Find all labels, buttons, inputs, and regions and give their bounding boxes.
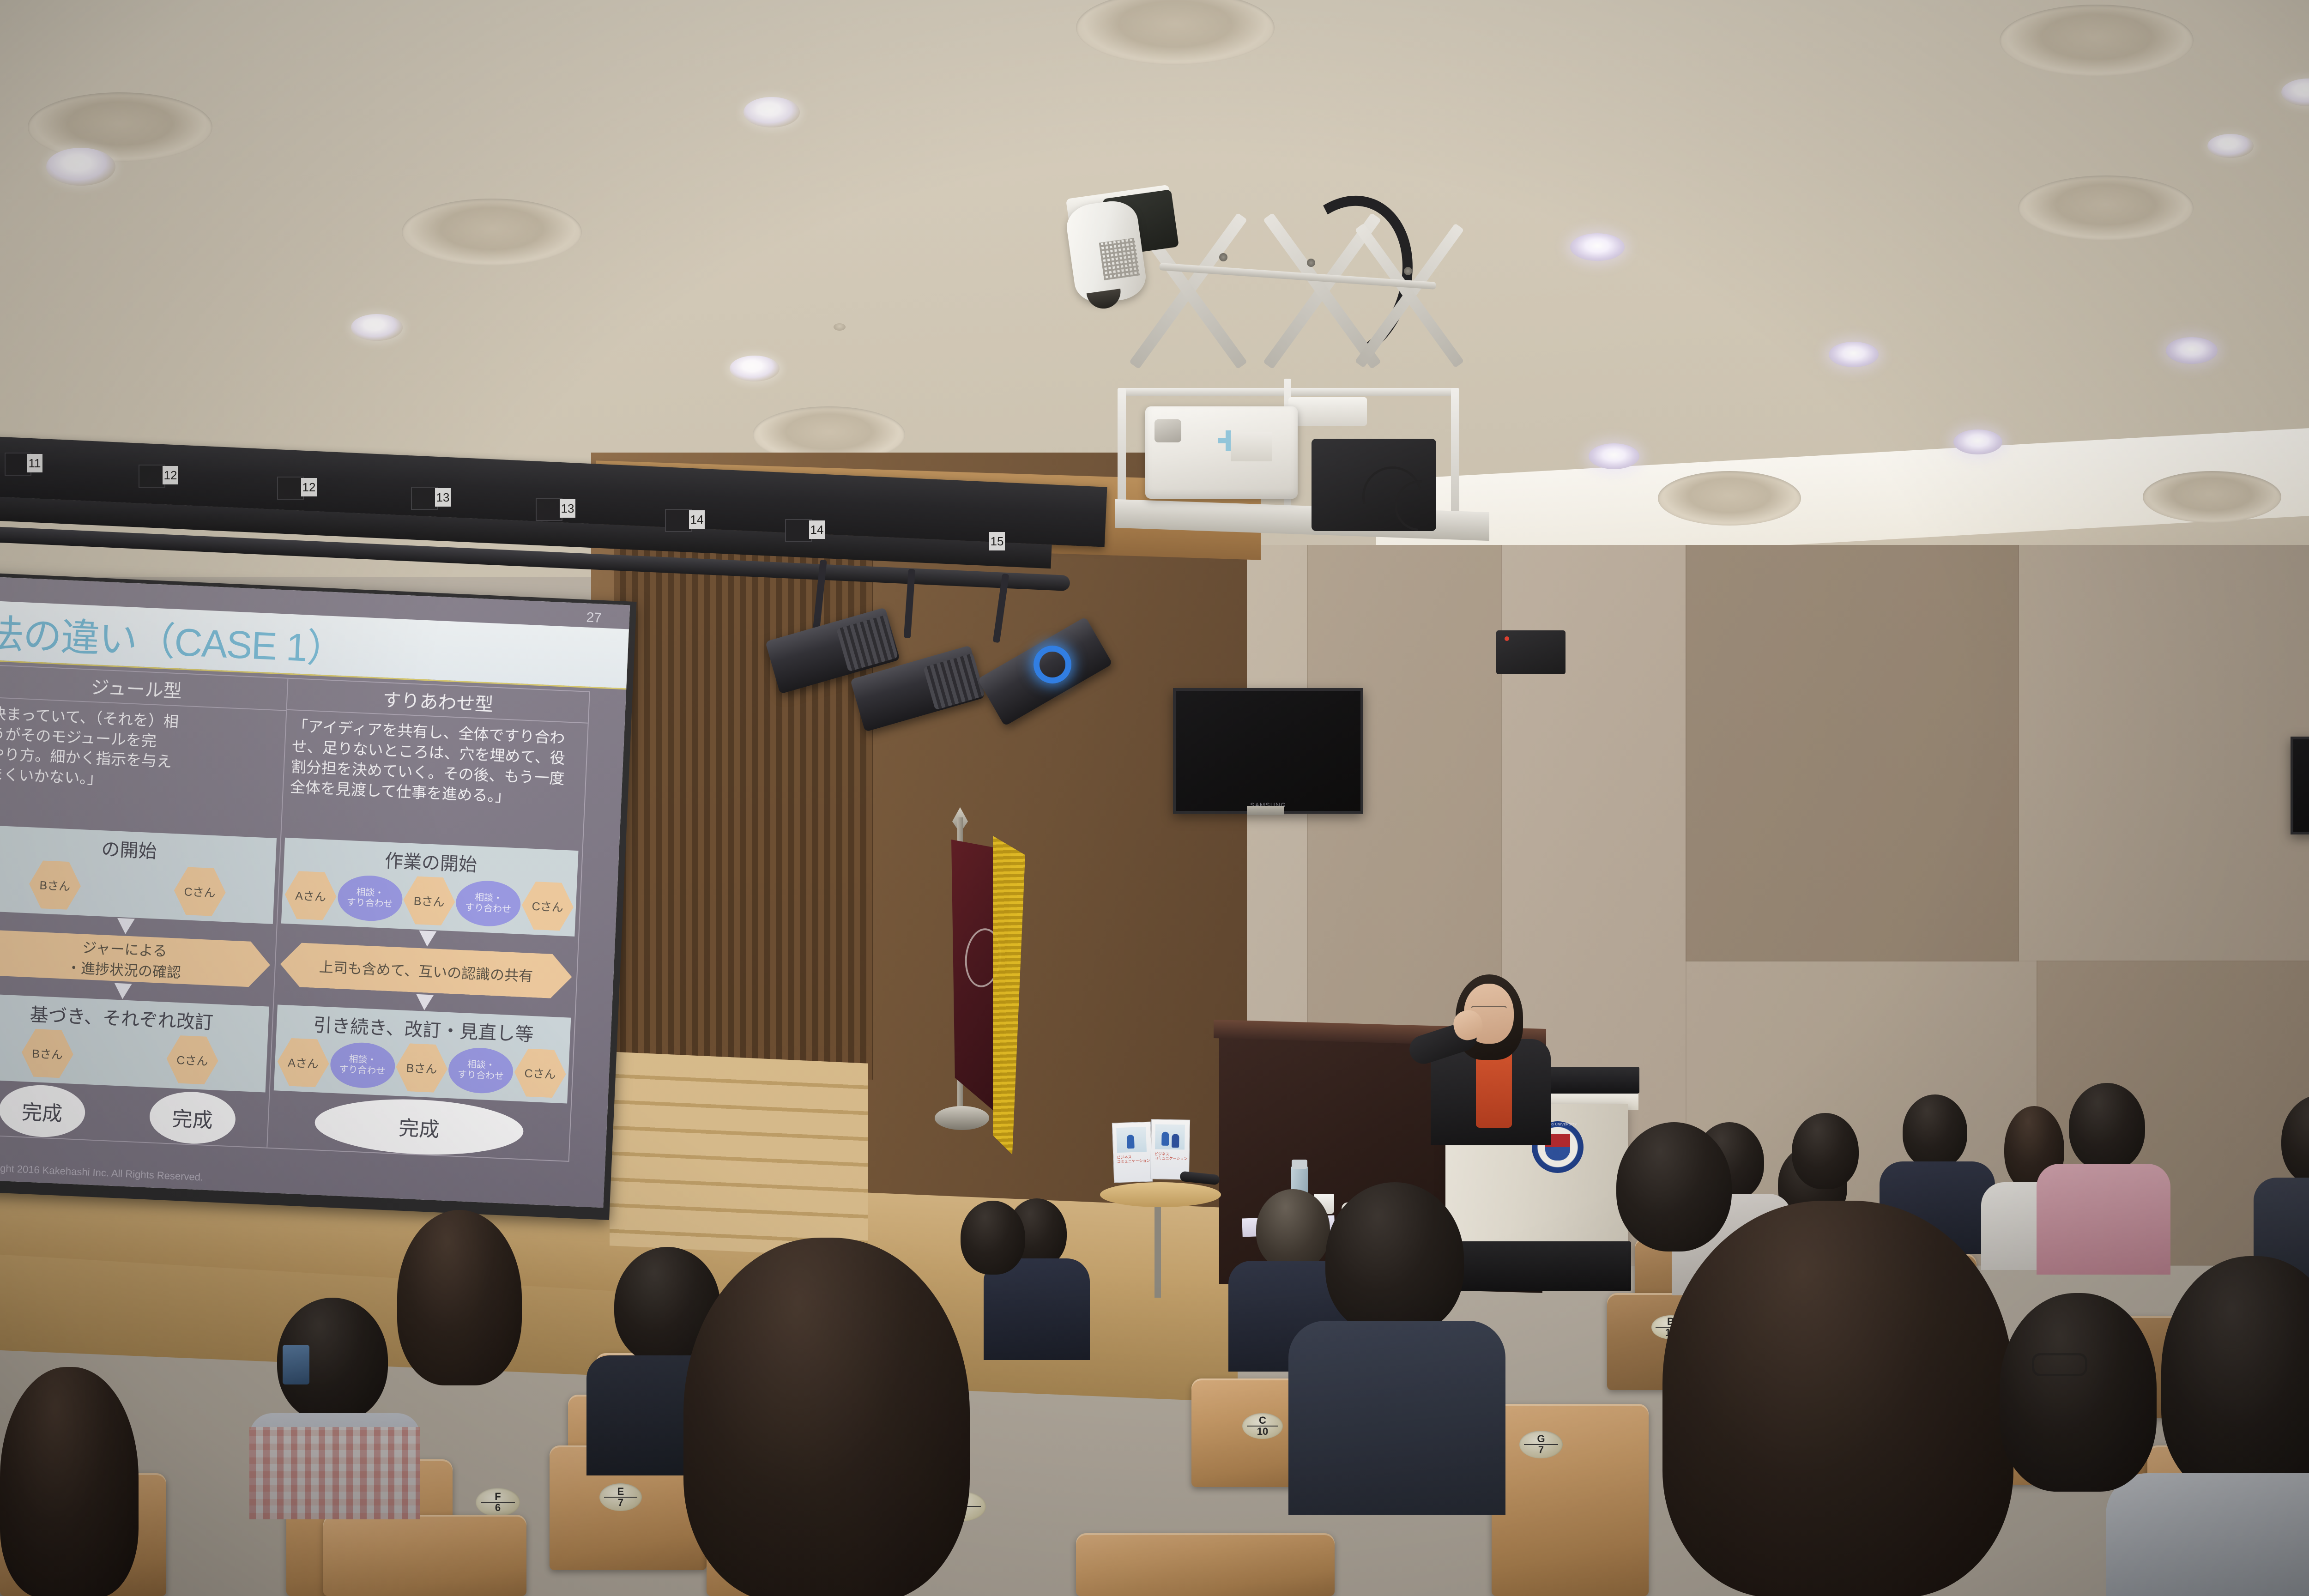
scissor-pivot [1219, 253, 1227, 261]
audience-member-head [1662, 1201, 2013, 1596]
spotlight-led-indicator [1034, 646, 1071, 683]
table-leg [1154, 1201, 1161, 1298]
audience-member-head [2069, 1083, 2145, 1171]
monitor-mount [1247, 806, 1284, 815]
projector-secondary-unit [1288, 397, 1367, 426]
circuit-number: 14 [689, 510, 705, 529]
seat-plaque: F 6 [476, 1488, 520, 1517]
lighting-circuit-outlet [411, 487, 438, 510]
seat-row-letter: C [1259, 1416, 1266, 1425]
wall-monitor-right[interactable] [2291, 737, 2309, 834]
flow-step-start: 作業の開始 Aさん 相談・ すり合わせ Bさん 相談・ すり合わせ Cさん [281, 838, 579, 937]
ceiling-ring-fixture [2018, 175, 2194, 240]
audience-member-head [683, 1238, 970, 1596]
ceiling-ring-fixture [2000, 5, 2194, 76]
column-quote: 決まっていて、（それを）相 うがそのモジュールを完 やり方。細かく指示を与え ま… [0, 697, 286, 837]
slide-title: 法の違い（CASE 1） [0, 602, 346, 674]
slide-page-number: 27 [586, 610, 602, 626]
flag-stand-base [935, 1106, 989, 1130]
projection-screen: 27 法の違い（CASE 1） ジュール型 決まっていて、（それを）相 うがその… [0, 573, 637, 1220]
auditorium-seat[interactable] [1076, 1533, 1335, 1596]
seat-number: 7 [618, 1498, 623, 1507]
auditorium-seat[interactable] [1492, 1404, 1649, 1596]
circuit-number: 15 [989, 532, 1005, 550]
seat-row-letter: E [617, 1487, 624, 1496]
smartphone[interactable] [283, 1345, 309, 1384]
auditorium-seat[interactable] [323, 1515, 526, 1596]
actor-node: Cさん [173, 866, 227, 917]
book-cover-image [1155, 1124, 1185, 1149]
ceiling-ring-fixture [28, 92, 212, 162]
audience-member-head [961, 1201, 1025, 1275]
ceiling-downlight [1589, 443, 1639, 469]
audience-member-head [1792, 1113, 1859, 1189]
seat-row-letter: G [1537, 1434, 1545, 1444]
lighting-circuit-outlet [139, 465, 165, 488]
ceiling-downlight [743, 97, 800, 127]
slide-comparison-table: ジュール型 決まっていて、（それを）相 うがそのモジュールを完 やり方。細かく指… [0, 665, 590, 1162]
result-node: 完成 [149, 1090, 237, 1146]
book-title: ビジネス コミュニケーション [1154, 1152, 1188, 1161]
book-cover-image [1116, 1127, 1147, 1153]
seat-number: 10 [1257, 1427, 1268, 1436]
seat-plaque: G 7 [1519, 1431, 1563, 1458]
slide-footer: Copyright 2016 Kakehashi Inc. All Rights… [0, 1161, 204, 1183]
wall-panel [2018, 545, 2309, 961]
crest-quadrant [1558, 1147, 1570, 1161]
ceiling-downlight [1829, 342, 1879, 367]
ptz-camera-vent [1099, 238, 1140, 280]
flow-mid-band: 上司も含めて、互いの認識の共有 [279, 942, 573, 999]
audience-member-head [0, 1367, 139, 1596]
audience-member-torso [2106, 1473, 2309, 1596]
audience-member-torso [2037, 1164, 2170, 1275]
scissor-pivot [1404, 267, 1412, 275]
flow-arrow-icon [117, 918, 135, 935]
ceiling-ring-fixture [402, 199, 582, 266]
discussion-bubble: 相談・ すり合わせ [447, 1046, 514, 1094]
podium-base-trim [1445, 1241, 1631, 1291]
audience-member-head [1616, 1122, 1732, 1251]
wall-monitor-center[interactable]: SAMSUNG [1173, 688, 1363, 814]
ceiling-downlight [1570, 233, 1625, 261]
discussion-bubble: 相談・ すり合わせ [337, 874, 403, 922]
ceiling-ring-fixture [2143, 471, 2281, 523]
actor-node: Cさん [165, 1034, 219, 1085]
projector-cage-frame [1451, 388, 1459, 526]
flow-step-start: の開始 Bさん Cさん [0, 825, 277, 924]
flow-arrow-icon [418, 931, 436, 947]
crest-quadrant [1545, 1147, 1558, 1161]
speaker-status-led [1505, 636, 1509, 641]
audience-member-head [2000, 1293, 2157, 1492]
audience-member-head [1256, 1189, 1330, 1270]
bottle-cap [1292, 1160, 1307, 1169]
flow-mid-band: ジャーによる ・進捗状況の確認 [0, 929, 271, 988]
lighting-circuit-outlet [665, 509, 692, 532]
ceiling-downlight [1953, 429, 2002, 454]
projected-slide: 27 法の違い（CASE 1） ジュール型 決まっていて、（それを）相 うがその… [0, 576, 630, 1208]
ceiling-downlight [730, 356, 780, 381]
lighting-circuit-outlet [536, 498, 562, 521]
circuit-number: 14 [809, 520, 825, 539]
actor-node: Aさん [276, 1038, 330, 1088]
seat-number: 7 [1538, 1445, 1544, 1455]
actor-node: Bさん [21, 1028, 75, 1078]
result-row: 完成 完成 [0, 1082, 269, 1147]
audience-member-plaid-shirt [249, 1427, 420, 1519]
acoustic-slat-panel [614, 527, 873, 1080]
ceiling-ring-fixture [1658, 471, 1801, 526]
flow-step-revise: 引き続き、改訂・見直し等 Aさん 相談・ すり合わせ Bさん 相談・ すり合わせ… [274, 1004, 571, 1103]
circuit-number: 12 [301, 478, 317, 496]
stage-steps [610, 1052, 868, 1257]
actor-node: Cさん [521, 881, 575, 931]
discussion-bubble: 相談・ すり合わせ [455, 879, 521, 927]
lecture-hall-scene: 27 法の違い（CASE 1） ジュール型 決まっていて、（それを）相 うがその… [0, 0, 2309, 1596]
seat-plaque: E 7 [599, 1483, 642, 1511]
flow-arrow-icon [114, 983, 132, 999]
projector-lens [1154, 419, 1181, 442]
book-display: ビジネス コミュニケーション [1150, 1119, 1190, 1179]
slide-column-left: ジュール型 決まっていて、（それを）相 うがそのモジュールを完 やり方。細かく指… [0, 665, 288, 1148]
book-figure-icon [1172, 1134, 1179, 1148]
column-quote: 「アイディアを共有し、全体ですり合わせ、足りないところは、穴を埋めて、役割分担を… [281, 710, 588, 850]
actor-node: Bさん [28, 860, 82, 910]
audience-member-torso [1288, 1321, 1505, 1515]
lighting-circuit-outlet [277, 477, 304, 500]
book-figure-icon [1161, 1132, 1169, 1146]
crest-quadrant [1558, 1134, 1570, 1147]
wall-panel [1686, 545, 2019, 961]
circuit-number: 12 [163, 466, 178, 484]
seat-number: 6 [495, 1503, 501, 1512]
book-figure-icon [1127, 1135, 1135, 1149]
circuit-number: 13 [435, 488, 451, 507]
circuit-number: 13 [560, 499, 575, 518]
result-row: 完成 [267, 1093, 571, 1161]
circuit-number: 11 [27, 454, 42, 472]
audience-member-head [1325, 1182, 1464, 1335]
book-display: ビジネス コミュニケーション [1112, 1122, 1153, 1183]
result-node: 完成 [314, 1095, 525, 1159]
sprinkler-head [834, 323, 846, 331]
actor-node: Bさん [402, 876, 456, 926]
screen-surface: 27 法の違い（CASE 1） ジュール型 決まっていて、（それを）相 うがその… [0, 576, 630, 1208]
audience-member-head [1903, 1094, 1967, 1168]
actor-node: Cさん [513, 1048, 567, 1098]
scissor-pivot [1307, 259, 1315, 267]
ceiling-downlight [351, 314, 403, 341]
lighting-circuit-outlet [785, 519, 812, 542]
actor-node: Bさん [395, 1043, 449, 1093]
eyeglasses [2032, 1353, 2087, 1376]
actor-node: Aさん [284, 871, 338, 921]
ceiling-downlight [2166, 337, 2218, 364]
projector-spec-label [1231, 432, 1272, 461]
display-table [1100, 1182, 1221, 1207]
flow-arrow-icon [416, 994, 434, 1011]
slide-column-right: すりあわせ型 「アイディアを共有し、全体ですり合わせ、足りないところは、穴を埋め… [267, 679, 589, 1161]
book-title: ビジネス コミュニケーション [1117, 1155, 1150, 1164]
discussion-bubble: 相談・ すり合わせ [329, 1041, 396, 1089]
ceiling-downlight [2207, 134, 2254, 158]
audience-member-head [397, 1210, 522, 1385]
seat-plaque: C 10 [1242, 1413, 1283, 1439]
ceiling-downlight [46, 148, 115, 186]
result-node: 完成 [0, 1083, 86, 1139]
audience-member-head [2161, 1256, 2309, 1496]
seat-row-letter: F [495, 1492, 501, 1501]
flow-step-revise: 基づき、それぞれ改訂 Bさん Cさん [0, 993, 269, 1092]
